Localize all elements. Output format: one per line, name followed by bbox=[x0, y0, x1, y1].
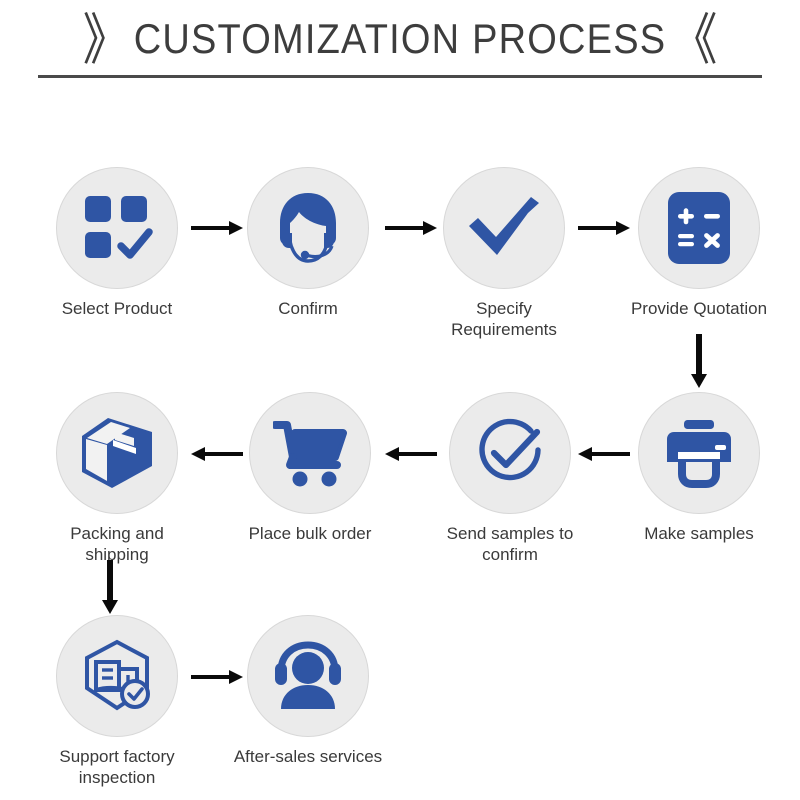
step-icon-circle bbox=[56, 615, 178, 737]
step-provide-quotation[interactable]: Provide Quotation bbox=[619, 167, 779, 319]
circle-check-icon bbox=[472, 415, 548, 491]
step-select-product[interactable]: Select Product bbox=[37, 167, 197, 319]
printer-icon bbox=[662, 418, 736, 488]
step-label: Select Product bbox=[37, 298, 197, 319]
step-icon-circle bbox=[56, 167, 178, 289]
step-place-bulk-order[interactable]: Place bulk order bbox=[230, 392, 390, 544]
arrow-right-3 bbox=[578, 219, 630, 237]
step-icon-circle bbox=[247, 615, 369, 737]
step-specify-requirements[interactable]: Specify Requirements bbox=[424, 167, 584, 341]
calculator-icon bbox=[666, 190, 732, 266]
step-send-samples-to-confirm[interactable]: Send samples to confirm bbox=[430, 392, 590, 566]
step-support-factory-inspection[interactable]: Support factory inspection bbox=[37, 615, 197, 789]
arrow-left-3 bbox=[191, 445, 243, 463]
step-make-samples[interactable]: Make samples bbox=[619, 392, 779, 544]
step-packing-and-shipping[interactable]: Packing and shipping bbox=[37, 392, 197, 566]
step-icon-circle bbox=[638, 392, 760, 514]
step-icon-circle bbox=[443, 167, 565, 289]
step-label: Confirm bbox=[228, 298, 388, 319]
shopping-cart-icon bbox=[273, 419, 347, 487]
step-icon-circle bbox=[249, 392, 371, 514]
process-flow-diagram: Select Product Confirm Specify Requireme… bbox=[0, 0, 800, 800]
step-label: After-sales services bbox=[228, 746, 388, 767]
arrow-down-row2-to-row3 bbox=[101, 560, 119, 614]
arrow-right-1 bbox=[191, 219, 243, 237]
headset-agent-icon bbox=[269, 189, 347, 267]
step-label: Provide Quotation bbox=[619, 298, 779, 319]
factory-inspection-icon bbox=[79, 638, 155, 714]
arrow-left-1 bbox=[578, 445, 630, 463]
step-label: Make samples bbox=[619, 523, 779, 544]
checkmark-icon bbox=[465, 193, 543, 263]
grid-check-icon bbox=[81, 192, 153, 264]
support-person-icon bbox=[271, 641, 345, 711]
arrow-down-row1-to-row2 bbox=[690, 334, 708, 388]
step-label: Specify Requirements bbox=[424, 298, 584, 341]
step-icon-circle bbox=[449, 392, 571, 514]
step-icon-circle bbox=[56, 392, 178, 514]
step-icon-circle bbox=[247, 167, 369, 289]
arrow-right-4 bbox=[191, 668, 243, 686]
step-after-sales-services[interactable]: After-sales services bbox=[228, 615, 388, 767]
arrow-right-2 bbox=[385, 219, 437, 237]
step-label: Support factory inspection bbox=[37, 746, 197, 789]
step-label: Place bulk order bbox=[230, 523, 390, 544]
step-icon-circle bbox=[638, 167, 760, 289]
step-label: Send samples to confirm bbox=[430, 523, 590, 566]
package-box-icon bbox=[78, 416, 156, 490]
arrow-left-2 bbox=[385, 445, 437, 463]
step-confirm[interactable]: Confirm bbox=[228, 167, 388, 319]
